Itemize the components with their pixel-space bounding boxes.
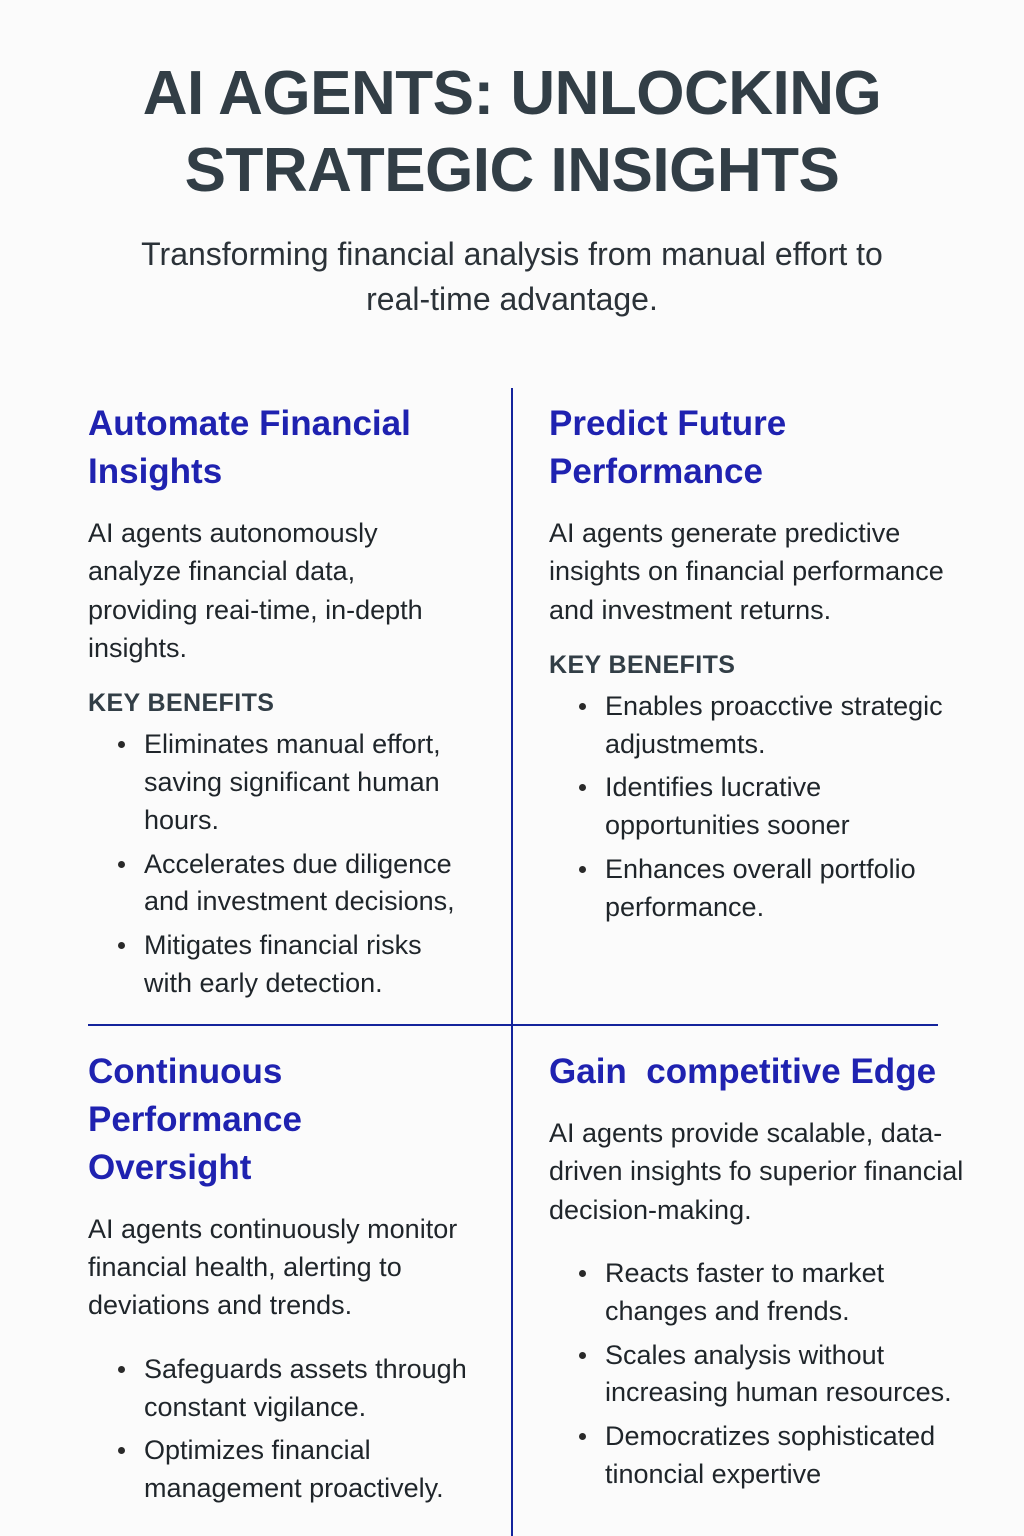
quadrant-description: AI agents autonomously analyze financial… (88, 514, 471, 667)
list-item: Enables proacctive strategic adjustmemts… (579, 688, 964, 764)
horizontal-divider (88, 1024, 938, 1026)
list-item: Mitigates financial risks with early det… (118, 927, 471, 1003)
quadrant-heading: Automate Financial Insights (88, 400, 471, 496)
list-item: Scales analysis without increasing human… (579, 1337, 974, 1413)
benefit-list: Safeguards assets through constant vigil… (88, 1351, 471, 1508)
benefit-list: Enables proacctive strategic adjustmemts… (549, 688, 964, 927)
page-subtitle: Transforming financial analysis from man… (112, 232, 912, 322)
list-item: Optimizes financial management proactive… (118, 1432, 471, 1508)
quadrant-description: AI agents continuously monitor financial… (88, 1210, 471, 1325)
key-benefits-label: KEY BENEFITS (549, 651, 964, 680)
quadrant-predict-future-performance: Predict Future Performance AI agents gen… (513, 388, 1024, 933)
key-benefits-label: KEY BENEFITS (88, 689, 471, 718)
quadrant-continuous-performance-oversight: Continuous Performance Oversight AI agen… (0, 1036, 511, 1514)
quadrant-description: AI agents generate predictive insights o… (549, 514, 964, 629)
list-item: Identifies lucrative opportunities soone… (579, 769, 964, 845)
quadrant-automate-financial-insights: Automate Financial Insights AI agents au… (0, 388, 511, 1009)
quadrant-gain-competitive-edge: Gain competitive Edge AI agents provide … (513, 1036, 1024, 1500)
benefit-list: Eliminates manual effort, saving signifi… (88, 726, 471, 1003)
header: AI AGENTS: UNLOCKING STRATEGIC INSIGHTS … (0, 0, 1024, 321)
quadrant-description: AI agents provide scalable, data-driven … (549, 1114, 974, 1229)
list-item: Eliminates manual effort, saving signifi… (118, 726, 471, 839)
quadrant-grid: Automate Financial Insights AI agents au… (0, 388, 1024, 1536)
quadrant-heading: Continuous Performance Oversight (88, 1048, 471, 1192)
quadrant-heading: Gain competitive Edge (549, 1048, 974, 1096)
quadrant-heading: Predict Future Performance (549, 400, 964, 496)
list-item: Reacts faster to market changes and fren… (579, 1255, 974, 1331)
infographic-page: AI AGENTS: UNLOCKING STRATEGIC INSIGHTS … (0, 0, 1024, 1536)
list-item: Accelerates due diligence and investment… (118, 846, 471, 922)
benefit-list: Reacts faster to market changes and fren… (549, 1255, 974, 1494)
list-item: Safeguards assets through constant vigil… (118, 1351, 471, 1427)
page-title: AI AGENTS: UNLOCKING STRATEGIC INSIGHTS (70, 56, 954, 210)
list-item: Democratizes sophisticated tinoncial exp… (579, 1418, 974, 1494)
list-item: Enhances overall portfolio performance. (579, 851, 964, 927)
